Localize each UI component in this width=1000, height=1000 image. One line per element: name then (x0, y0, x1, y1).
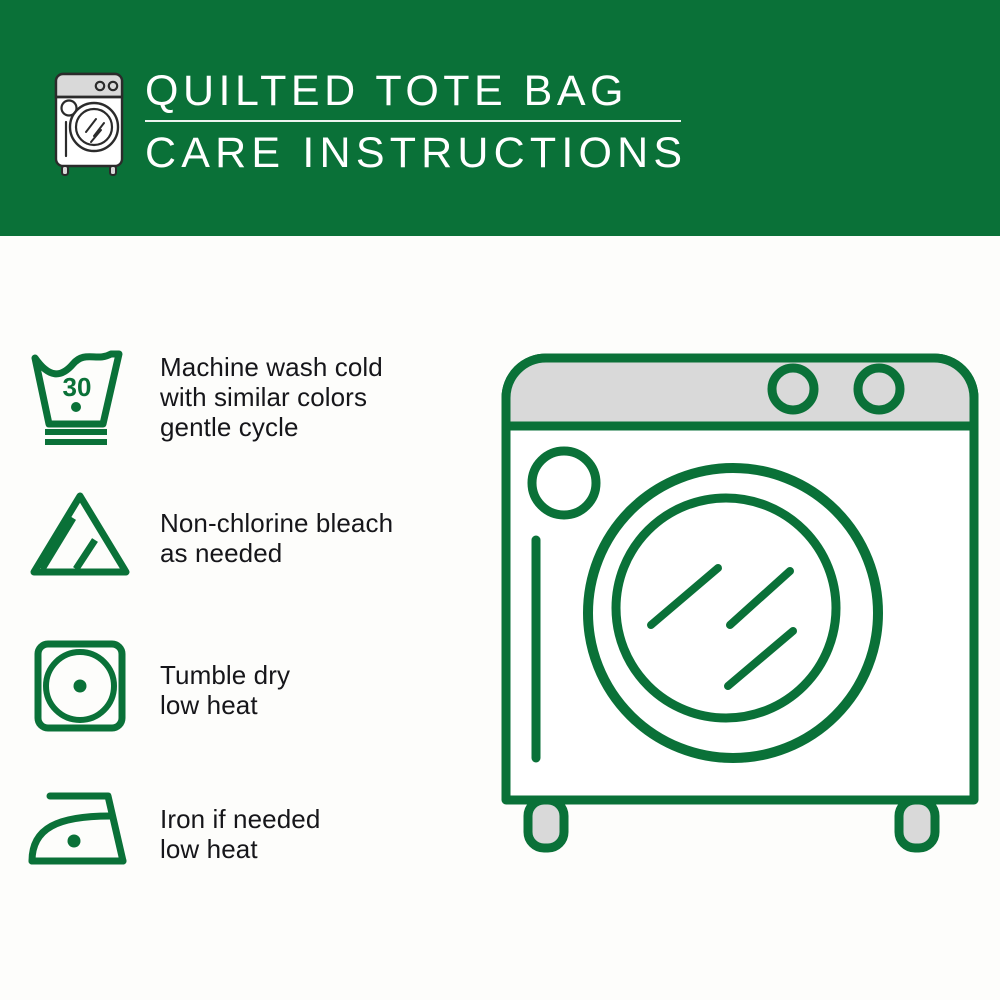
care-instruction-text: Tumble dry low heat (160, 636, 290, 720)
wash-tub-icon: 30 (0, 346, 160, 446)
page-title: QUILTED TOTE BAG (145, 66, 705, 116)
care-instruction-item: Iron if needed low heat (0, 786, 500, 868)
tumble-dry-icon (0, 636, 160, 734)
care-instruction-list: 30 Machine wash cold with similar colors… (0, 236, 500, 1000)
bleach-triangle-icon (0, 486, 160, 580)
care-text-line: low heat (160, 690, 290, 720)
care-text-line: Machine wash cold (160, 352, 383, 382)
care-text-line: Non-chlorine bleach (160, 508, 393, 538)
care-text-line: as needed (160, 538, 393, 568)
care-instruction-item: 30 Machine wash cold with similar colors… (0, 346, 500, 446)
washing-machine-logo-icon (42, 64, 138, 176)
care-instruction-item: Non-chlorine bleach as needed (0, 486, 500, 580)
care-text-line: Tumble dry (160, 660, 290, 690)
care-text-line: with similar colors (160, 382, 383, 412)
care-instruction-text: Machine wash cold with similar colors ge… (160, 346, 383, 442)
care-text-line: low heat (160, 834, 320, 864)
machine-leg (528, 800, 564, 848)
washing-machine-illustration (490, 328, 990, 928)
header-text-block: QUILTED TOTE BAG CARE INSTRUCTIONS (145, 66, 705, 179)
care-instruction-text: Non-chlorine bleach as needed (160, 486, 393, 568)
machine-leg (899, 800, 935, 848)
title-divider (145, 120, 681, 122)
header-band: QUILTED TOTE BAG CARE INSTRUCTIONS (0, 0, 1000, 236)
wash-temperature-label: 30 (63, 372, 92, 402)
iron-icon (0, 786, 160, 868)
care-text-line: Iron if needed (160, 804, 320, 834)
care-text-line: gentle cycle (160, 412, 383, 442)
page-subtitle: CARE INSTRUCTIONS (145, 127, 705, 179)
care-instruction-text: Iron if needed low heat (160, 786, 320, 864)
care-instruction-item: Tumble dry low heat (0, 636, 500, 734)
